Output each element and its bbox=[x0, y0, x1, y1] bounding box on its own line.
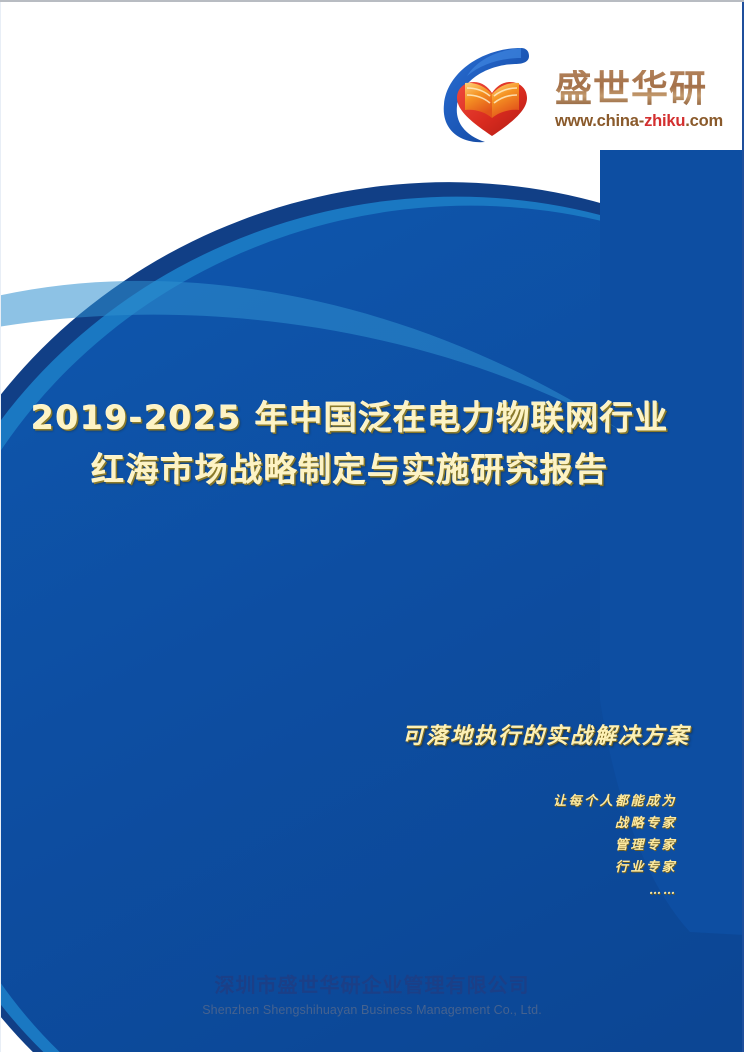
logo-url-prefix: www.china- bbox=[555, 112, 644, 130]
logo-url-suffix: .com bbox=[685, 112, 723, 130]
expert-line-management: 管理专家 bbox=[0, 835, 677, 857]
logo-mark-icon bbox=[437, 38, 549, 146]
publisher-footer: 深圳市盛世华研企业管理有限公司 Shenzhen Shengshihuayan … bbox=[0, 972, 744, 1018]
expert-tagline-block: 让每个人都能成为 战略专家 管理专家 行业专家 …… bbox=[0, 791, 677, 901]
logo-brand-name: 盛世华研 bbox=[555, 70, 723, 107]
brand-logo: 盛世华研 www.china-zhiku.com bbox=[437, 33, 717, 151]
report-title-line-1: 2019-2025 年中国泛在电力物联网行业 bbox=[0, 392, 700, 444]
publisher-name-en: Shenzhen Shengshihuayan Business Managem… bbox=[0, 1002, 744, 1018]
page-edge-top bbox=[0, 0, 744, 2]
logo-text-block: 盛世华研 www.china-zhiku.com bbox=[555, 54, 723, 131]
report-cover-page: 盛世华研 www.china-zhiku.com 2019-2025 年中国泛在… bbox=[0, 0, 744, 1052]
report-slogan: 可落地执行的实战解决方案 bbox=[0, 718, 690, 750]
page-edge-left bbox=[0, 0, 1, 1052]
logo-website-url: www.china-zhiku.com bbox=[555, 112, 723, 131]
report-title: 2019-2025 年中国泛在电力物联网行业 红海市场战略制定与实施研究报告 bbox=[0, 392, 700, 496]
expert-line-ellipsis: …… bbox=[0, 879, 677, 901]
expert-line-intro: 让每个人都能成为 bbox=[0, 791, 677, 813]
logo-url-highlight: zhiku bbox=[644, 112, 685, 130]
expert-line-strategy: 战略专家 bbox=[0, 813, 677, 835]
expert-line-industry: 行业专家 bbox=[0, 857, 677, 879]
report-title-line-2: 红海市场战略制定与实施研究报告 bbox=[0, 444, 700, 496]
publisher-name-cn: 深圳市盛世华研企业管理有限公司 bbox=[0, 972, 744, 998]
